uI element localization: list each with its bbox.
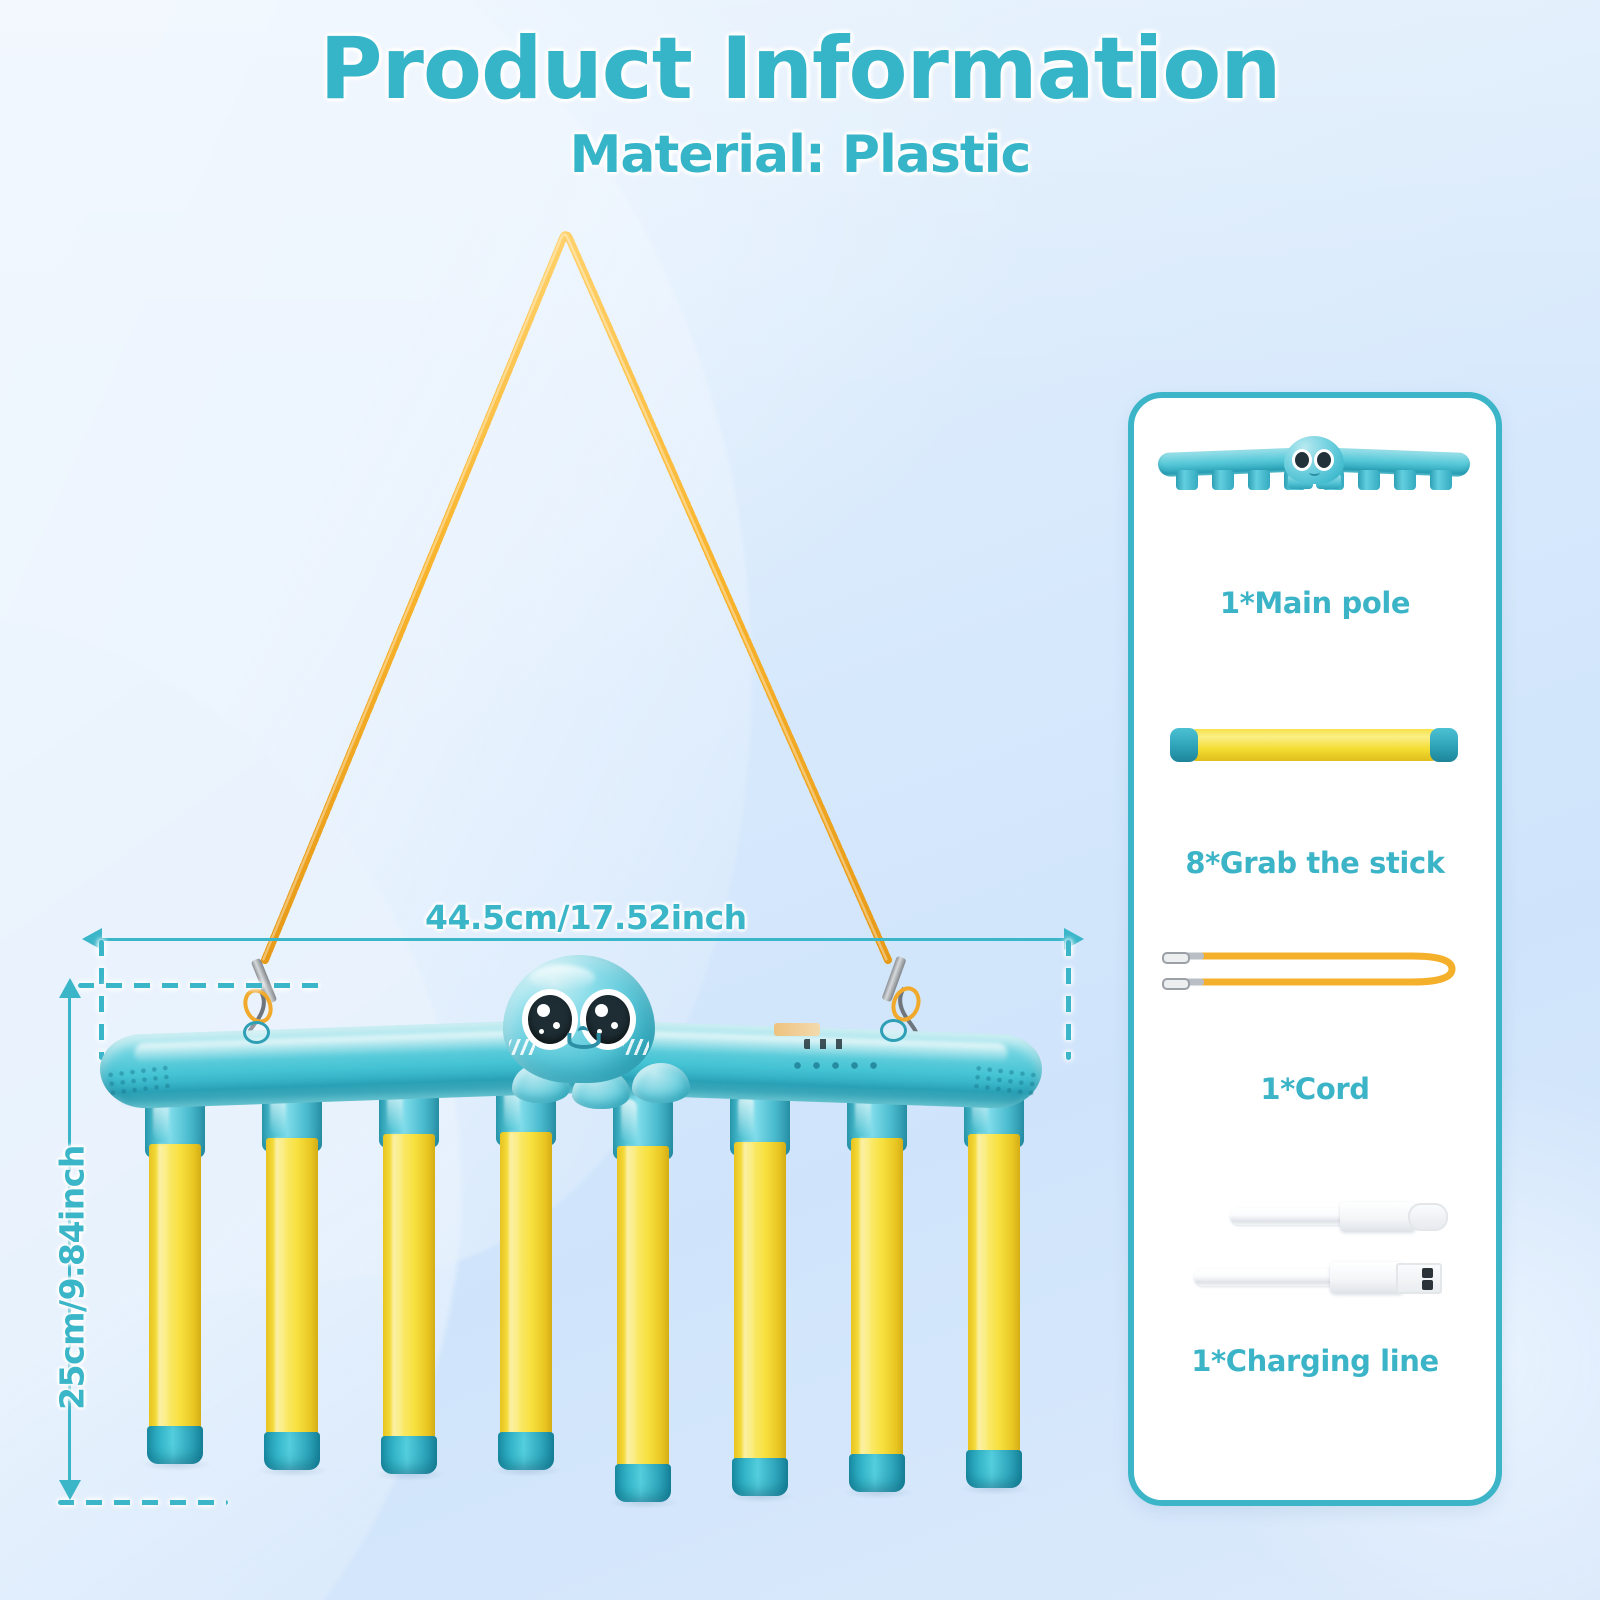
page-title: Product Information xyxy=(0,26,1600,114)
grab-stick-shadow-7 xyxy=(843,1486,913,1499)
eye-highlight-left-c xyxy=(539,1029,544,1034)
grab-stick-rod-3 xyxy=(383,1134,435,1440)
part-label-charging-line: 1*Charging line xyxy=(1134,1344,1496,1378)
grab-stick-rod-4 xyxy=(500,1132,552,1436)
grab-stick-shadow-4 xyxy=(492,1464,562,1477)
grab-stick-thumbnail-icon xyxy=(1170,728,1458,762)
grab-stick-shadow-1 xyxy=(141,1458,211,1471)
part-label-main-pole: 1*Main pole xyxy=(1134,586,1496,620)
page-subtitle: Material: Plastic xyxy=(0,128,1600,183)
width-dimension-label: 44.5cm/17.52inch xyxy=(425,898,747,937)
cord-thumbnail-icon xyxy=(1162,946,1468,992)
part-label-grab-stick: 8*Grab the stick xyxy=(1134,846,1496,880)
grab-stick-rod-5 xyxy=(617,1146,669,1468)
octopus-eye-left xyxy=(528,995,572,1044)
height-arrow-down xyxy=(59,1480,81,1500)
usb-a-pin-top xyxy=(1422,1268,1433,1278)
mini-socket-1 xyxy=(1176,470,1198,490)
part-label-cord: 1*Cord xyxy=(1134,1072,1496,1106)
height-guide-dash-bottom xyxy=(58,1500,228,1505)
mini-eye-right xyxy=(1317,452,1331,468)
octopus-mouth xyxy=(567,1033,601,1049)
mini-socket-7 xyxy=(1394,470,1416,490)
octopus-blush-left xyxy=(509,1039,535,1055)
eye-highlight-right-a xyxy=(595,1004,608,1017)
width-dimension-line xyxy=(100,938,1070,941)
octopus-head xyxy=(503,955,655,1083)
grab-stick-rod-2 xyxy=(266,1138,318,1436)
octopus-blush-right xyxy=(623,1039,649,1055)
usb-c-boot xyxy=(1340,1202,1416,1232)
grab-stick-shadow-6 xyxy=(726,1490,796,1503)
grab-stick-shadow-3 xyxy=(375,1468,445,1481)
mini-eye-left xyxy=(1295,452,1309,468)
mini-socket-6 xyxy=(1358,470,1380,490)
parts-list-card: 1*Main pole 8*Grab the stick 1*Cord xyxy=(1128,392,1502,1506)
grab-stick-cap-left xyxy=(1170,728,1198,762)
mini-octopus-head xyxy=(1284,436,1344,484)
grab-stick-rod-1 xyxy=(149,1144,201,1430)
eye-highlight-left-a xyxy=(537,1004,550,1017)
main-pole-thumbnail-icon xyxy=(1158,436,1470,498)
usb-c-wire xyxy=(1230,1208,1358,1225)
grab-stick-rod-7 xyxy=(851,1138,903,1458)
label-sticker xyxy=(774,1023,820,1036)
mini-mouth xyxy=(1309,469,1320,476)
mini-socket-3 xyxy=(1248,470,1270,490)
usb-a-wire xyxy=(1194,1269,1346,1286)
cord-tip-bottom xyxy=(1162,978,1190,990)
mini-socket-2 xyxy=(1212,470,1234,490)
usb-a-boot xyxy=(1330,1262,1404,1294)
cord-loop-left xyxy=(243,1021,270,1044)
product-information-infographic: Product Information Material: Plastic 44… xyxy=(0,0,1600,1600)
usb-c-tip xyxy=(1408,1203,1448,1231)
grab-stick-body xyxy=(1192,729,1436,761)
usb-c-connector-icon xyxy=(1230,1200,1460,1234)
sucker-row-right xyxy=(788,1061,884,1070)
arm-gloss-left xyxy=(134,1029,564,1064)
usb-a-connector-icon xyxy=(1194,1260,1460,1296)
eye-highlight-left-b xyxy=(553,1022,560,1029)
usb-a-tip xyxy=(1396,1263,1442,1294)
grab-stick-shadow-2 xyxy=(258,1464,328,1477)
arm-shade-right xyxy=(561,1071,1021,1103)
cord-loop-right xyxy=(880,1019,907,1042)
grab-stick-rod-6 xyxy=(734,1142,786,1462)
mini-socket-8 xyxy=(1430,470,1452,490)
cord-tip-top xyxy=(1162,952,1190,964)
head-gloss xyxy=(529,965,595,991)
grab-stick-shadow-5 xyxy=(609,1496,679,1509)
grab-stick-rod-8 xyxy=(968,1134,1020,1454)
grab-stick-cap-right xyxy=(1430,728,1458,762)
octopus-main-pole xyxy=(60,955,1080,1165)
grab-stick-shadow-8 xyxy=(960,1482,1030,1495)
speaker-vent-icon xyxy=(804,1039,852,1049)
eye-highlight-right-b xyxy=(611,1022,618,1029)
usb-a-pin-bottom xyxy=(1422,1280,1433,1290)
